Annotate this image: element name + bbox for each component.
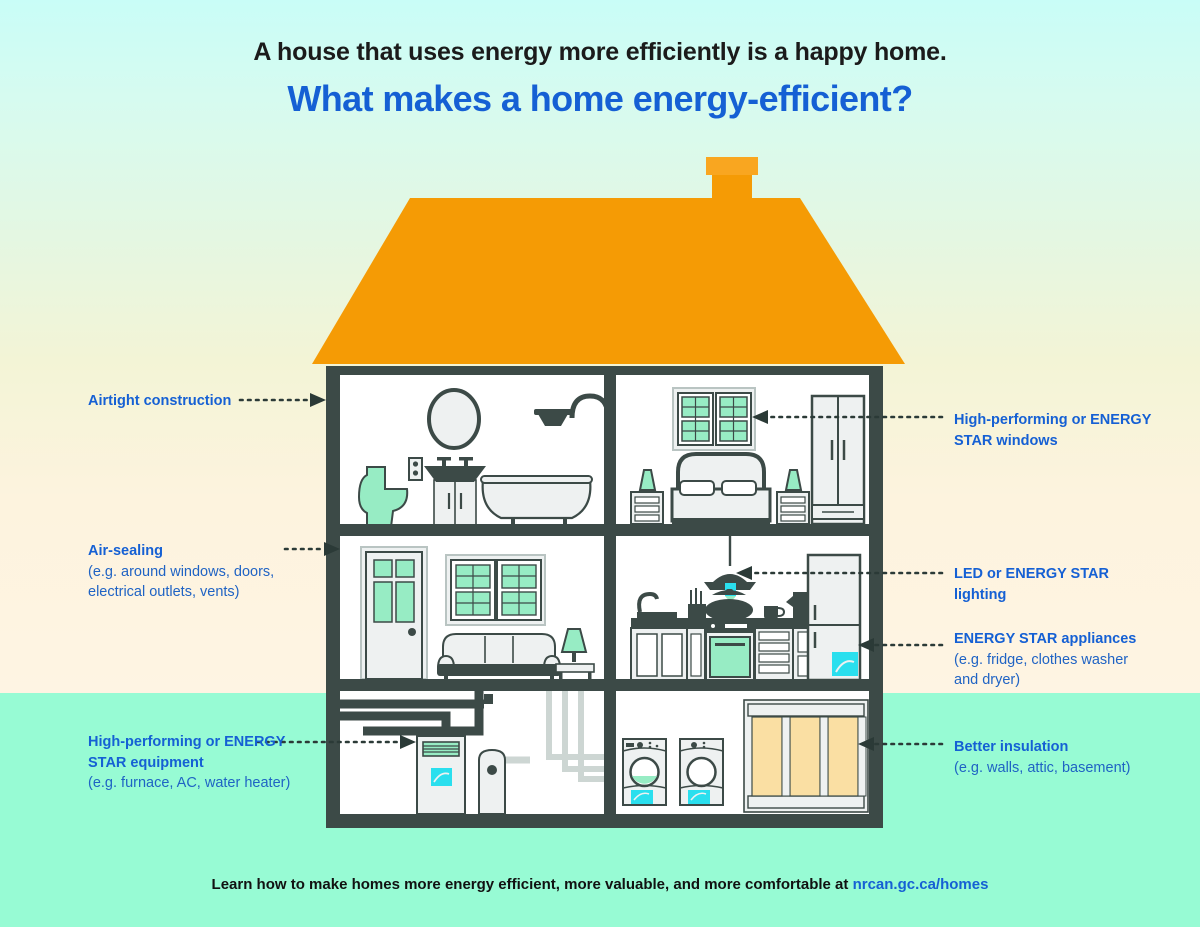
living-window-icon	[446, 555, 545, 625]
callout-insulation-title: Better insulation	[954, 737, 1164, 758]
callout-airsealing-sub: (e.g. around windows, doors, electrical …	[88, 562, 303, 603]
callout-insulation-sub: (e.g. walls, attic, basement)	[954, 758, 1164, 779]
bed-icon	[672, 454, 770, 524]
furnace-icon	[417, 736, 465, 814]
dryer-icon	[680, 739, 723, 805]
insulation-wall-icon	[744, 700, 868, 812]
footer-url-link[interactable]: nrcan.gc.ca/homes	[853, 876, 989, 893]
electrical-outlet-icon	[409, 458, 422, 480]
callout-equipment-sub: (e.g. furnace, AC, water heater)	[88, 773, 298, 794]
callout-lighting-title: LED or ENERGY STAR lighting	[954, 564, 1134, 605]
callout-equipment-title: High-performing or ENERGY STAR equipment	[88, 732, 298, 773]
callout-airtight-construction: Airtight construction	[88, 391, 288, 412]
energy-star-label-furnace	[431, 768, 452, 786]
callout-energy-star-equipment: High-performing or ENERGY STAR equipment…	[88, 732, 298, 794]
washer-icon	[623, 739, 666, 805]
callout-better-insulation: Better insulation (e.g. walls, attic, ba…	[954, 737, 1164, 778]
roof	[312, 198, 905, 364]
oven-icon	[706, 619, 754, 680]
callout-energy-star-windows: High-performing or ENERGY STAR windows	[954, 410, 1154, 451]
callout-appliances-title: ENERGY STAR appliances	[954, 629, 1154, 650]
water-heater-icon	[479, 750, 505, 814]
front-door-icon	[361, 547, 427, 679]
sink-icon	[424, 457, 486, 527]
callout-airtight-title: Airtight construction	[88, 391, 288, 412]
energy-star-label-dryer	[688, 790, 710, 804]
callout-air-sealing: Air-sealing (e.g. around windows, doors,…	[88, 541, 303, 603]
callout-led-lighting: LED or ENERGY STAR lighting	[954, 564, 1134, 605]
energy-star-label-fridge	[832, 652, 858, 676]
bedroom-window-icon	[673, 388, 755, 450]
footer-text: Learn how to make homes more energy effi…	[212, 876, 849, 893]
wardrobe-icon	[812, 396, 864, 524]
footer-cta: Learn how to make homes more energy effi…	[0, 876, 1200, 893]
callout-energy-star-appliances: ENERGY STAR appliances (e.g. fridge, clo…	[954, 629, 1154, 691]
mirror-icon	[429, 390, 479, 448]
energy-star-label-washer	[631, 790, 653, 804]
callout-airsealing-title: Air-sealing	[88, 541, 303, 562]
callout-appliances-sub: (e.g. fridge, clothes washer and dryer)	[954, 650, 1154, 691]
sofa-icon	[437, 634, 561, 680]
callout-windows-title: High-performing or ENERGY STAR windows	[954, 410, 1154, 451]
